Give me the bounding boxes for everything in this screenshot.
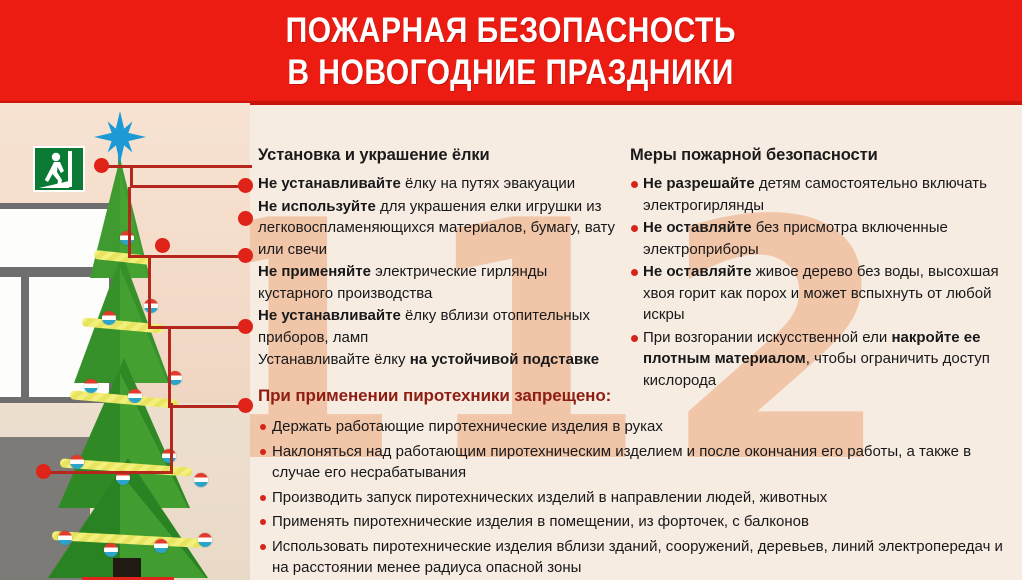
list-item: Не применяйте электрические гирлянды кус… [258,261,618,304]
list-item: Не оставляйте без присмотра включенные э… [630,217,1015,260]
list-item: Не оставляйте живое дерево без воды, выс… [630,261,1015,326]
room-illustration [0,103,250,580]
header-title-line2: В НОВОГОДНИЕ ПРАЗДНИКИ [288,52,735,94]
item-bold: Не оставляйте [643,263,752,280]
list-item: Держать работающие пиротехнические издел… [258,416,1015,438]
item-text: ёлку на путях эвакуации [401,175,575,192]
list-item: Производить запуск пиротехнических издел… [258,487,1015,509]
tree-setup-title: Установка и украшение ёлки [258,146,618,165]
fire-measures-list: Не разрешайте детям самостоятельно включ… [630,173,1015,391]
fire-safety-poster: ПОЖАРНАЯ БЕЗОПАСНОСТЬ В НОВОГОДНИЕ ПРАЗД… [0,0,1022,580]
item-bold: Не применяйте [258,263,371,280]
list-item: Не используйте для украшения елки игрушк… [258,196,618,261]
item-bold: Не оставляйте [643,219,752,236]
pyrotechnics-title: При применении пиротехники запрещено: [258,386,1015,406]
item-text: Устанавливайте ёлку [258,351,410,368]
christmas-tree [58,103,248,580]
tree-setup-list: Не устанавливайте ёлку на путях эвакуаци… [258,173,618,371]
item-bold: Не устанавливайте [258,175,401,192]
list-item: Не разрешайте детям самостоятельно включ… [630,173,1015,216]
section-pyrotechnics: При применении пиротехники запрещено: Де… [258,386,1015,580]
list-item: Применять пиротехнические изделия в поме… [258,511,1015,533]
poster-header: ПОЖАРНАЯ БЕЗОПАСНОСТЬ В НОВОГОДНИЕ ПРАЗД… [0,0,1022,103]
list-item: Устанавливайте ёлку на устойчивой подста… [258,349,618,371]
list-item: Не устанавливайте ёлку вблизи отопительн… [258,305,618,348]
item-bold: Не устанавливайте [258,307,401,324]
item-bold: Не используйте [258,198,376,215]
pyrotechnics-list: Держать работающие пиротехнические издел… [258,416,1015,579]
section-tree-setup: Установка и украшение ёлки Не устанавлив… [258,146,618,372]
item-bold: на устойчивой подставке [410,351,599,368]
list-item: Не устанавливайте ёлку на путях эвакуаци… [258,173,618,195]
fire-measures-title: Меры пожарной безопасности [630,146,1015,165]
list-item: При возгорании искусственной ели накройт… [630,327,1015,392]
item-bold: Не разрешайте [643,175,755,192]
item-text: При возгорании искусственной ели [643,329,891,346]
section-fire-measures: Меры пожарной безопасности Не разрешайте… [630,146,1015,392]
header-title-line1: ПОЖАРНАЯ БЕЗОПАСНОСТЬ [286,10,736,52]
list-item: Использовать пиротехнические изделия вбл… [258,536,1015,579]
list-item: Наклоняться над работающим пиротехническ… [258,441,1015,484]
